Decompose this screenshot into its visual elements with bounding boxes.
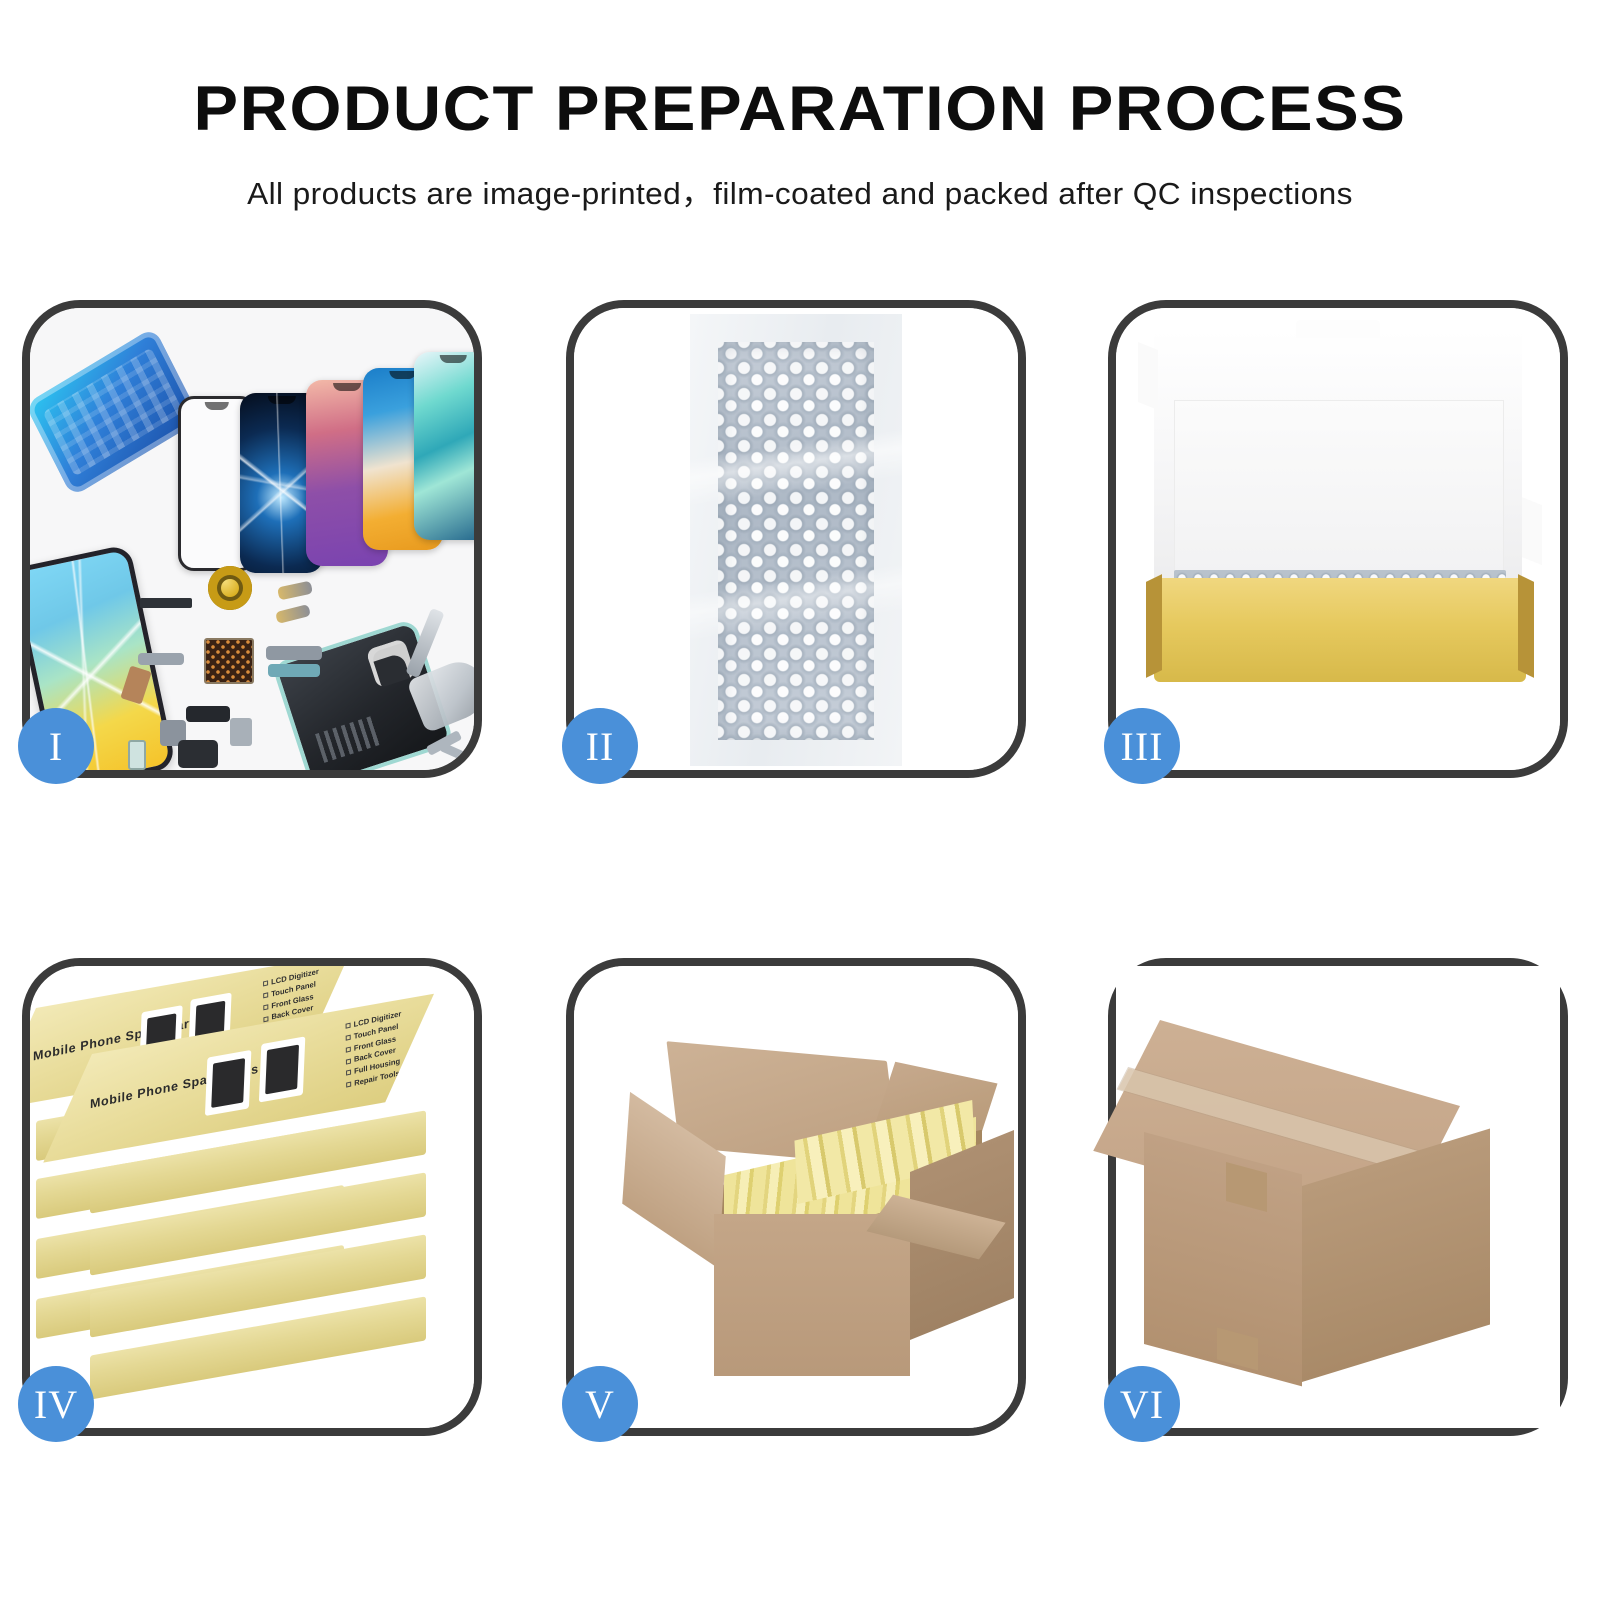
process-step-3: III xyxy=(1108,300,1568,778)
process-step-1: I xyxy=(22,300,482,778)
step-badge-1: I xyxy=(18,708,94,784)
checkbox-icon xyxy=(346,1046,351,1052)
process-step-4: Mobile Phone Spare Parts LCD Digitizer T… xyxy=(22,958,482,1436)
carton-left-face xyxy=(1144,1132,1302,1386)
step-2-image xyxy=(574,308,1018,770)
screen-fan xyxy=(178,366,468,576)
phone-screen-teal-icon xyxy=(414,352,474,540)
ic-chip-icon xyxy=(204,638,254,684)
checkbox-icon xyxy=(346,1058,351,1064)
stacked-retail-boxes-scene: Mobile Phone Spare Parts LCD Digitizer T… xyxy=(30,966,474,1428)
page-subtitle: All products are image-printed，film-coat… xyxy=(0,168,1600,213)
header: PRODUCT PREPARATION PROCESS All products… xyxy=(0,76,1600,213)
carton-front-face xyxy=(714,1214,910,1376)
antenna-flex-part-icon xyxy=(268,664,320,677)
packing-tape-icon xyxy=(1217,1327,1258,1370)
sim-tray-icon xyxy=(128,740,146,770)
retail-box-thumbnail xyxy=(205,1050,252,1116)
checkbox-icon xyxy=(263,993,268,999)
checkbox-icon xyxy=(263,981,268,987)
step-badge-5: V xyxy=(562,1366,638,1442)
speaker-part-icon xyxy=(140,598,192,608)
bubble-wrap-bag-icon xyxy=(690,314,902,766)
checkbox-icon xyxy=(346,1035,351,1041)
sealed-carton-scene xyxy=(1116,966,1560,1428)
packing-tape-icon xyxy=(1226,1162,1267,1211)
step-6-image: VI xyxy=(1116,966,1560,1428)
button-flex-part-icon xyxy=(266,646,322,660)
camera-module-icon xyxy=(230,718,252,746)
module-part-icon xyxy=(186,706,230,722)
checkbox-icon xyxy=(346,1082,351,1088)
phone-parts-scene xyxy=(30,308,474,770)
product-preparation-infographic: PRODUCT PREPARATION PROCESS All products… xyxy=(0,0,1600,1600)
mailer-box-scene xyxy=(1116,308,1560,770)
step-1-image xyxy=(30,308,474,770)
taptic-engine-icon xyxy=(178,740,218,768)
foam-insert xyxy=(1174,400,1504,578)
adhesive-film-icon xyxy=(30,327,201,497)
checkbox-icon xyxy=(346,1070,351,1076)
checkbox-icon xyxy=(263,1016,268,1022)
retail-box-thumbnail xyxy=(258,1036,305,1102)
open-shipping-carton xyxy=(620,1036,992,1388)
checkbox-icon xyxy=(263,1005,268,1011)
sealed-shipping-carton xyxy=(1120,1010,1590,1400)
flex-cable-part-icon xyxy=(275,604,311,624)
checkbox-icon xyxy=(346,1023,351,1029)
step-5-image xyxy=(574,966,1018,1428)
step-badge-4: IV xyxy=(18,1366,94,1442)
process-step-6: VI xyxy=(1108,958,1568,1436)
process-step-5: V xyxy=(566,958,1026,1436)
step-3-image xyxy=(1116,308,1560,770)
process-step-grid: I II xyxy=(22,300,1578,1435)
step-badge-6: VI xyxy=(1104,1366,1180,1442)
screw-icon xyxy=(439,742,470,762)
retail-box-checklist: LCD Digitizer Touch Panel Front Glass Ba… xyxy=(346,1008,402,1091)
step-4-image: Mobile Phone Spare Parts LCD Digitizer T… xyxy=(30,966,474,1428)
flex-cable-part-icon xyxy=(277,581,313,601)
mailer-box-tray xyxy=(1154,578,1526,682)
process-step-2: II xyxy=(566,300,1026,778)
retail-box-stack: Mobile Phone Spare Parts LCD Digitizer T… xyxy=(30,990,474,1420)
wireless-charging-coil-icon xyxy=(208,566,252,610)
connector-part-icon xyxy=(138,653,184,665)
open-carton-scene xyxy=(574,966,1018,1428)
page-title: PRODUCT PREPARATION PROCESS xyxy=(0,76,1600,142)
step-badge-2: II xyxy=(562,708,638,784)
bubble-wrap-scene xyxy=(574,308,1018,770)
plastic-sheen-overlay xyxy=(690,314,902,766)
step-badge-3: III xyxy=(1104,708,1180,784)
